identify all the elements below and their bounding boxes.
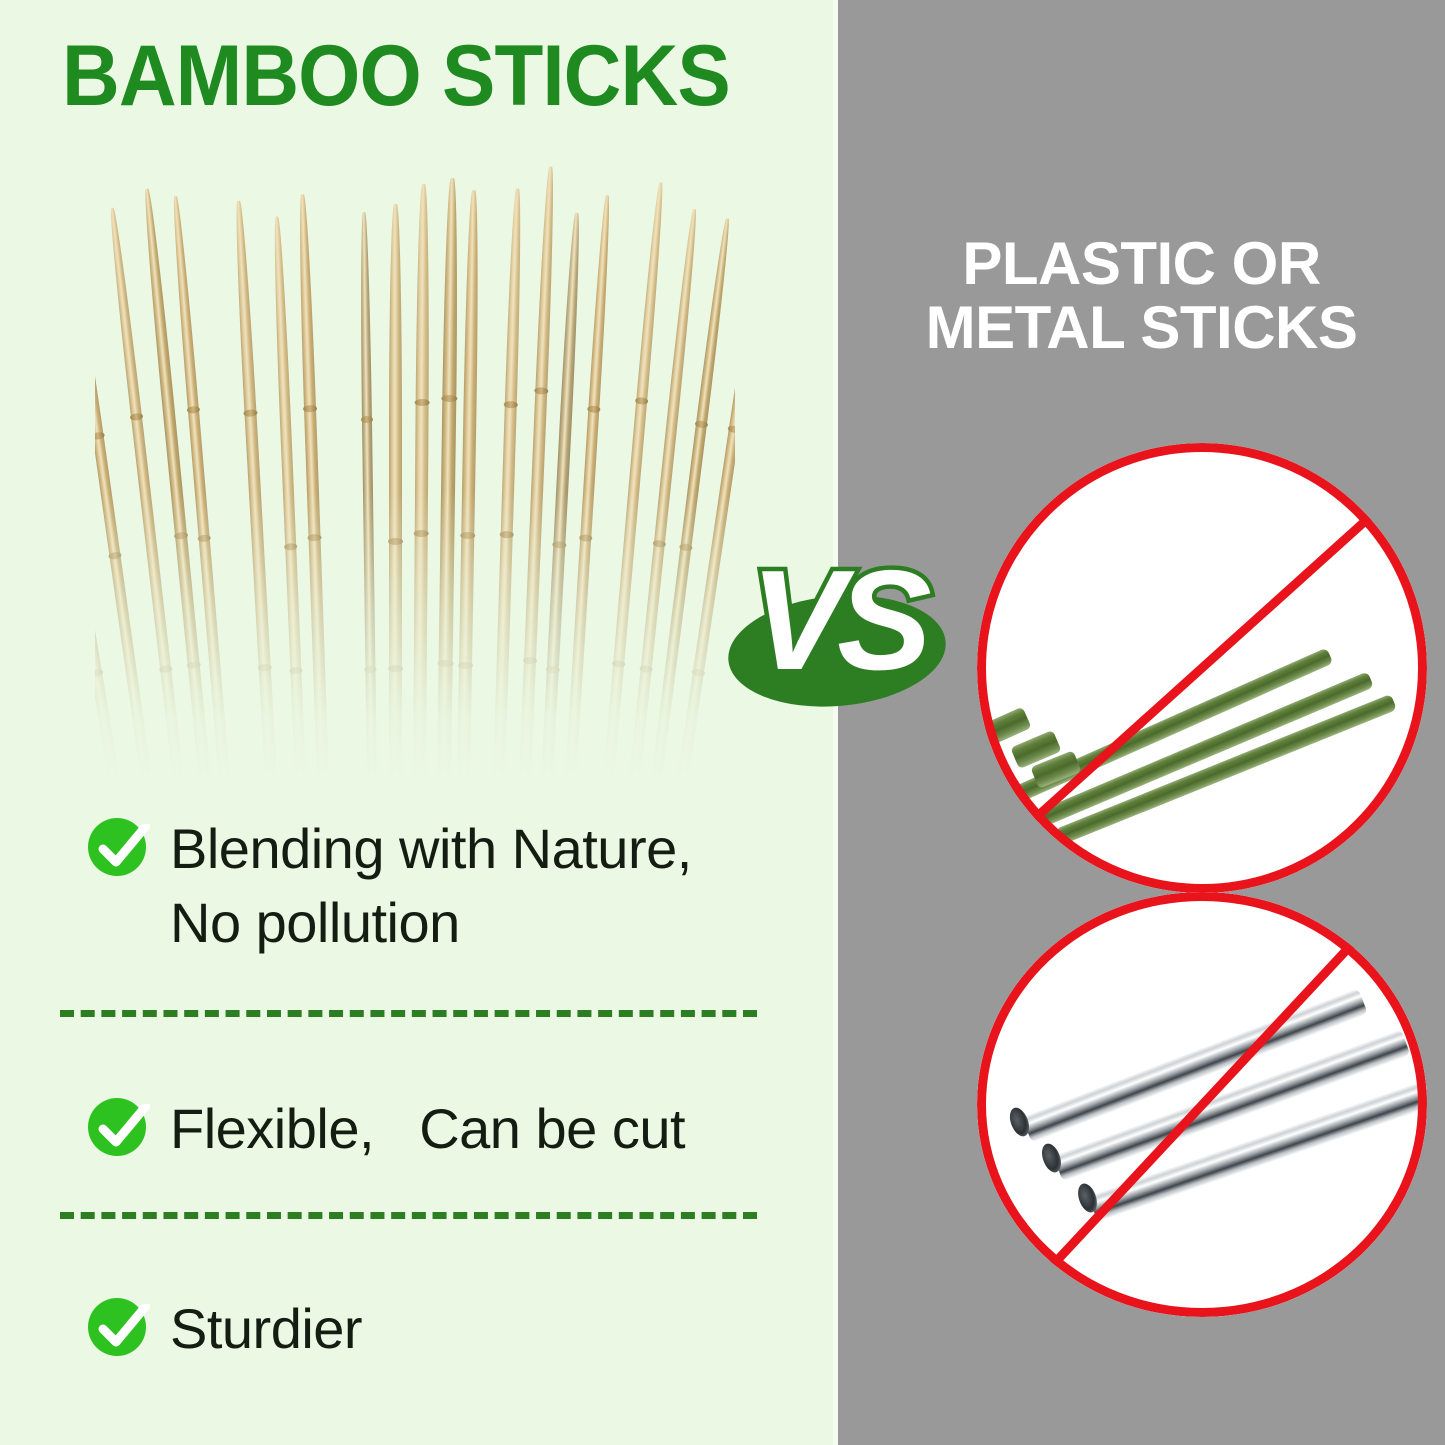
bamboo-node <box>523 657 537 665</box>
bamboo-node <box>691 668 705 677</box>
prohibition-sign-plastic <box>977 443 1427 893</box>
bamboo-node <box>695 420 709 429</box>
page-title-line-1: PLASTIC OR <box>838 232 1445 296</box>
bamboo-node <box>186 661 201 669</box>
bamboo-node <box>364 666 376 673</box>
benefit-label: Blending with Nature, No pollution <box>170 812 692 961</box>
benefit-item-1: Blending with Nature, No pollution <box>88 812 788 961</box>
page-title-line-2: METAL STICKS <box>838 296 1445 360</box>
bamboo-node <box>552 541 566 549</box>
bamboo-node <box>579 534 592 542</box>
bamboo-node <box>534 387 548 395</box>
bamboo-node <box>361 416 373 423</box>
bamboo-node <box>108 551 122 560</box>
left-panel-bamboo: BAMBOO STICKS Blending with Nature, No p… <box>0 0 833 1445</box>
benefit-item-2: Flexible, Can be cut <box>88 1092 788 1166</box>
bamboo-cane <box>413 184 430 780</box>
benefit-item-3: Sturdier <box>88 1292 788 1366</box>
bamboo-node <box>174 531 189 539</box>
bamboo-node <box>258 664 272 672</box>
bamboo-node <box>441 395 457 402</box>
page-title-plastic-metal: PLASTIC OR METAL STICKS <box>838 232 1445 360</box>
bamboo-node <box>159 665 173 673</box>
bamboo-node <box>635 397 649 405</box>
bamboo-cane <box>233 201 277 780</box>
check-circle-icon <box>88 1098 150 1160</box>
bamboo-node <box>653 540 667 548</box>
bamboo-cane <box>603 182 666 780</box>
bamboo-node <box>504 401 518 408</box>
comparison-infographic: BAMBOO STICKS Blending with Nature, No p… <box>0 0 1445 1445</box>
check-circle-icon <box>88 1298 150 1360</box>
bamboo-node <box>639 665 653 673</box>
bamboo-cane <box>457 190 480 780</box>
bamboo-node <box>546 666 560 674</box>
prohibition-sign-metal <box>977 892 1427 1317</box>
benefit-label: Sturdier <box>170 1292 362 1366</box>
bamboo-node <box>187 406 201 414</box>
bamboo-node <box>415 399 430 406</box>
divider-1 <box>60 1010 757 1017</box>
vs-label: VS <box>722 536 952 711</box>
prohibition-ring <box>977 892 1427 1317</box>
bamboo-node <box>303 405 317 412</box>
bamboo-node <box>679 543 693 552</box>
bamboo-node <box>388 665 403 672</box>
bamboo-node <box>130 413 144 421</box>
check-circle-icon <box>88 818 150 880</box>
bamboo-node <box>612 660 626 668</box>
bamboo-node <box>197 534 211 542</box>
prohibition-ring <box>977 443 1427 893</box>
bamboo-node <box>458 662 473 669</box>
bamboo-sticks-photo <box>95 160 735 780</box>
divider-2 <box>60 1212 757 1219</box>
bamboo-node <box>414 530 429 537</box>
bamboo-node <box>587 405 600 413</box>
vs-badge: VS <box>722 536 952 711</box>
bamboo-node <box>388 538 403 545</box>
bamboo-node <box>289 667 302 675</box>
bamboo-node <box>460 532 475 539</box>
bamboo-node <box>500 531 514 538</box>
bamboo-cane <box>493 188 524 780</box>
bamboo-node <box>307 534 321 541</box>
bamboo-cane <box>359 212 377 780</box>
bamboo-cane <box>437 178 459 780</box>
bamboo-node <box>438 659 454 666</box>
bamboo-cane <box>389 204 402 780</box>
page-title-bamboo: BAMBOO STICKS <box>62 33 730 119</box>
bamboo-node <box>95 669 104 678</box>
benefit-label: Flexible, Can be cut <box>170 1092 685 1166</box>
bamboo-node <box>95 432 105 441</box>
bamboo-node <box>284 543 297 551</box>
bamboo-node <box>727 424 735 433</box>
bamboo-node <box>243 409 257 417</box>
